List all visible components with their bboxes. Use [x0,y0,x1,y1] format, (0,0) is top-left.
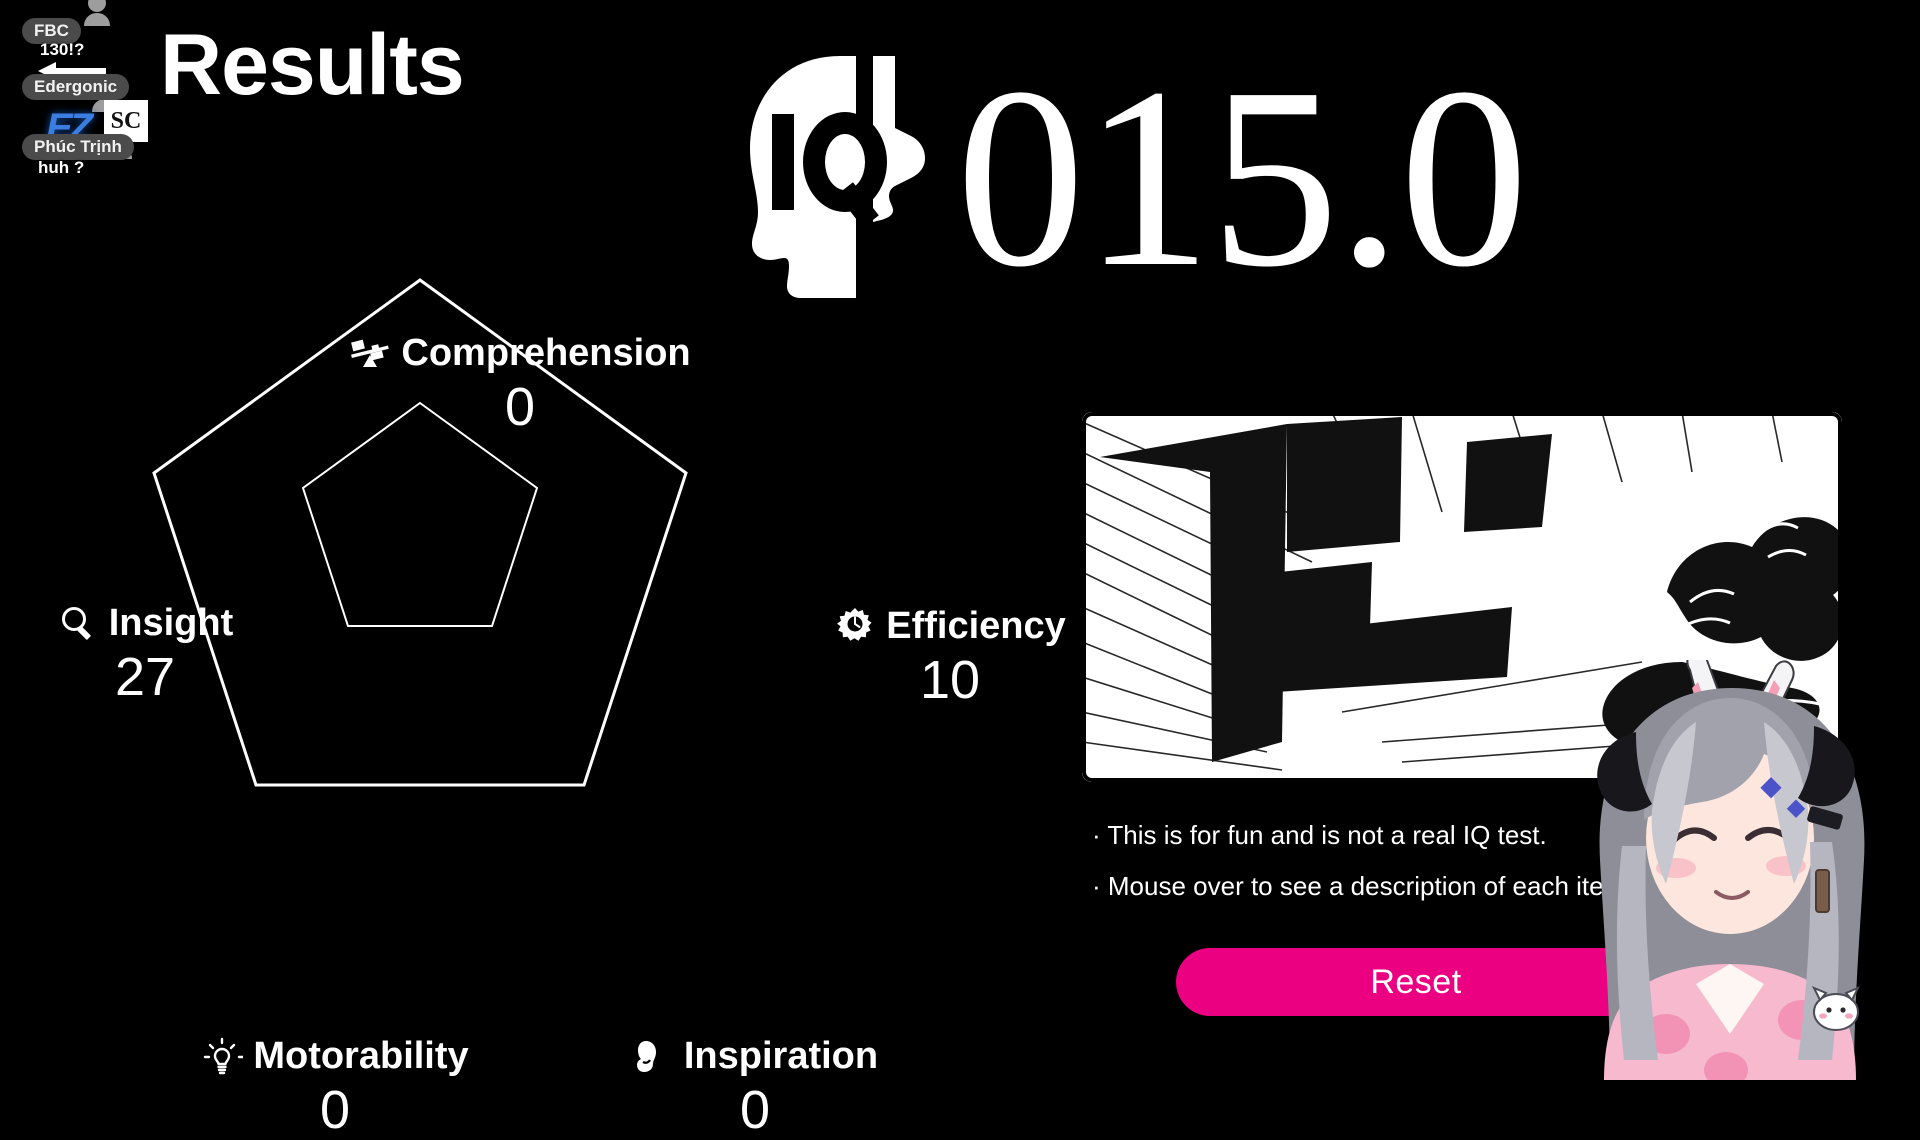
iq-score-value: 015.0 [956,77,1527,277]
vtuber-avatar [1540,660,1920,1080]
magnifier-icon [57,602,99,644]
chat-message: 130!? [40,40,84,60]
axis-motorability[interactable]: Inspiration 0 [590,1035,920,1137]
axis-label-text: Motorability [253,1037,468,1075]
axis-efficiency[interactable]: Efficiency 10 [805,605,1095,707]
head-iq-icon [740,52,950,302]
lightbulb-icon [201,1035,243,1077]
page-title: Results [160,22,464,108]
axis-value: 0 [310,380,730,434]
axis-inspiration[interactable]: Motorability 0 [175,1035,495,1137]
axis-comprehension[interactable]: Comprehension 0 [310,332,730,434]
results-screen: Results FBC 130!? Edergonic EZ SC Phúc T… [0,0,1920,1080]
chat-avatar [80,0,114,26]
iq-score-block: 015.0 [740,52,1527,302]
chat-username: Edergonic [22,74,129,100]
radar-ring-inner [303,403,537,626]
axis-value: 0 [175,1083,495,1137]
axis-label-text: Efficiency [886,607,1066,645]
axis-insight[interactable]: Insight 27 [0,602,290,704]
axis-label-text: Inspiration [684,1037,878,1075]
axis-value: 10 [805,653,1095,707]
axis-value: 27 [0,650,290,704]
flexed-bicep-icon [632,1035,674,1077]
axis-label-text: Insight [109,604,234,642]
balance-scale-icon [349,332,391,374]
axis-label-text: Comprehension [401,334,690,372]
gear-clock-icon [834,605,876,647]
axis-value: 0 [590,1083,920,1137]
